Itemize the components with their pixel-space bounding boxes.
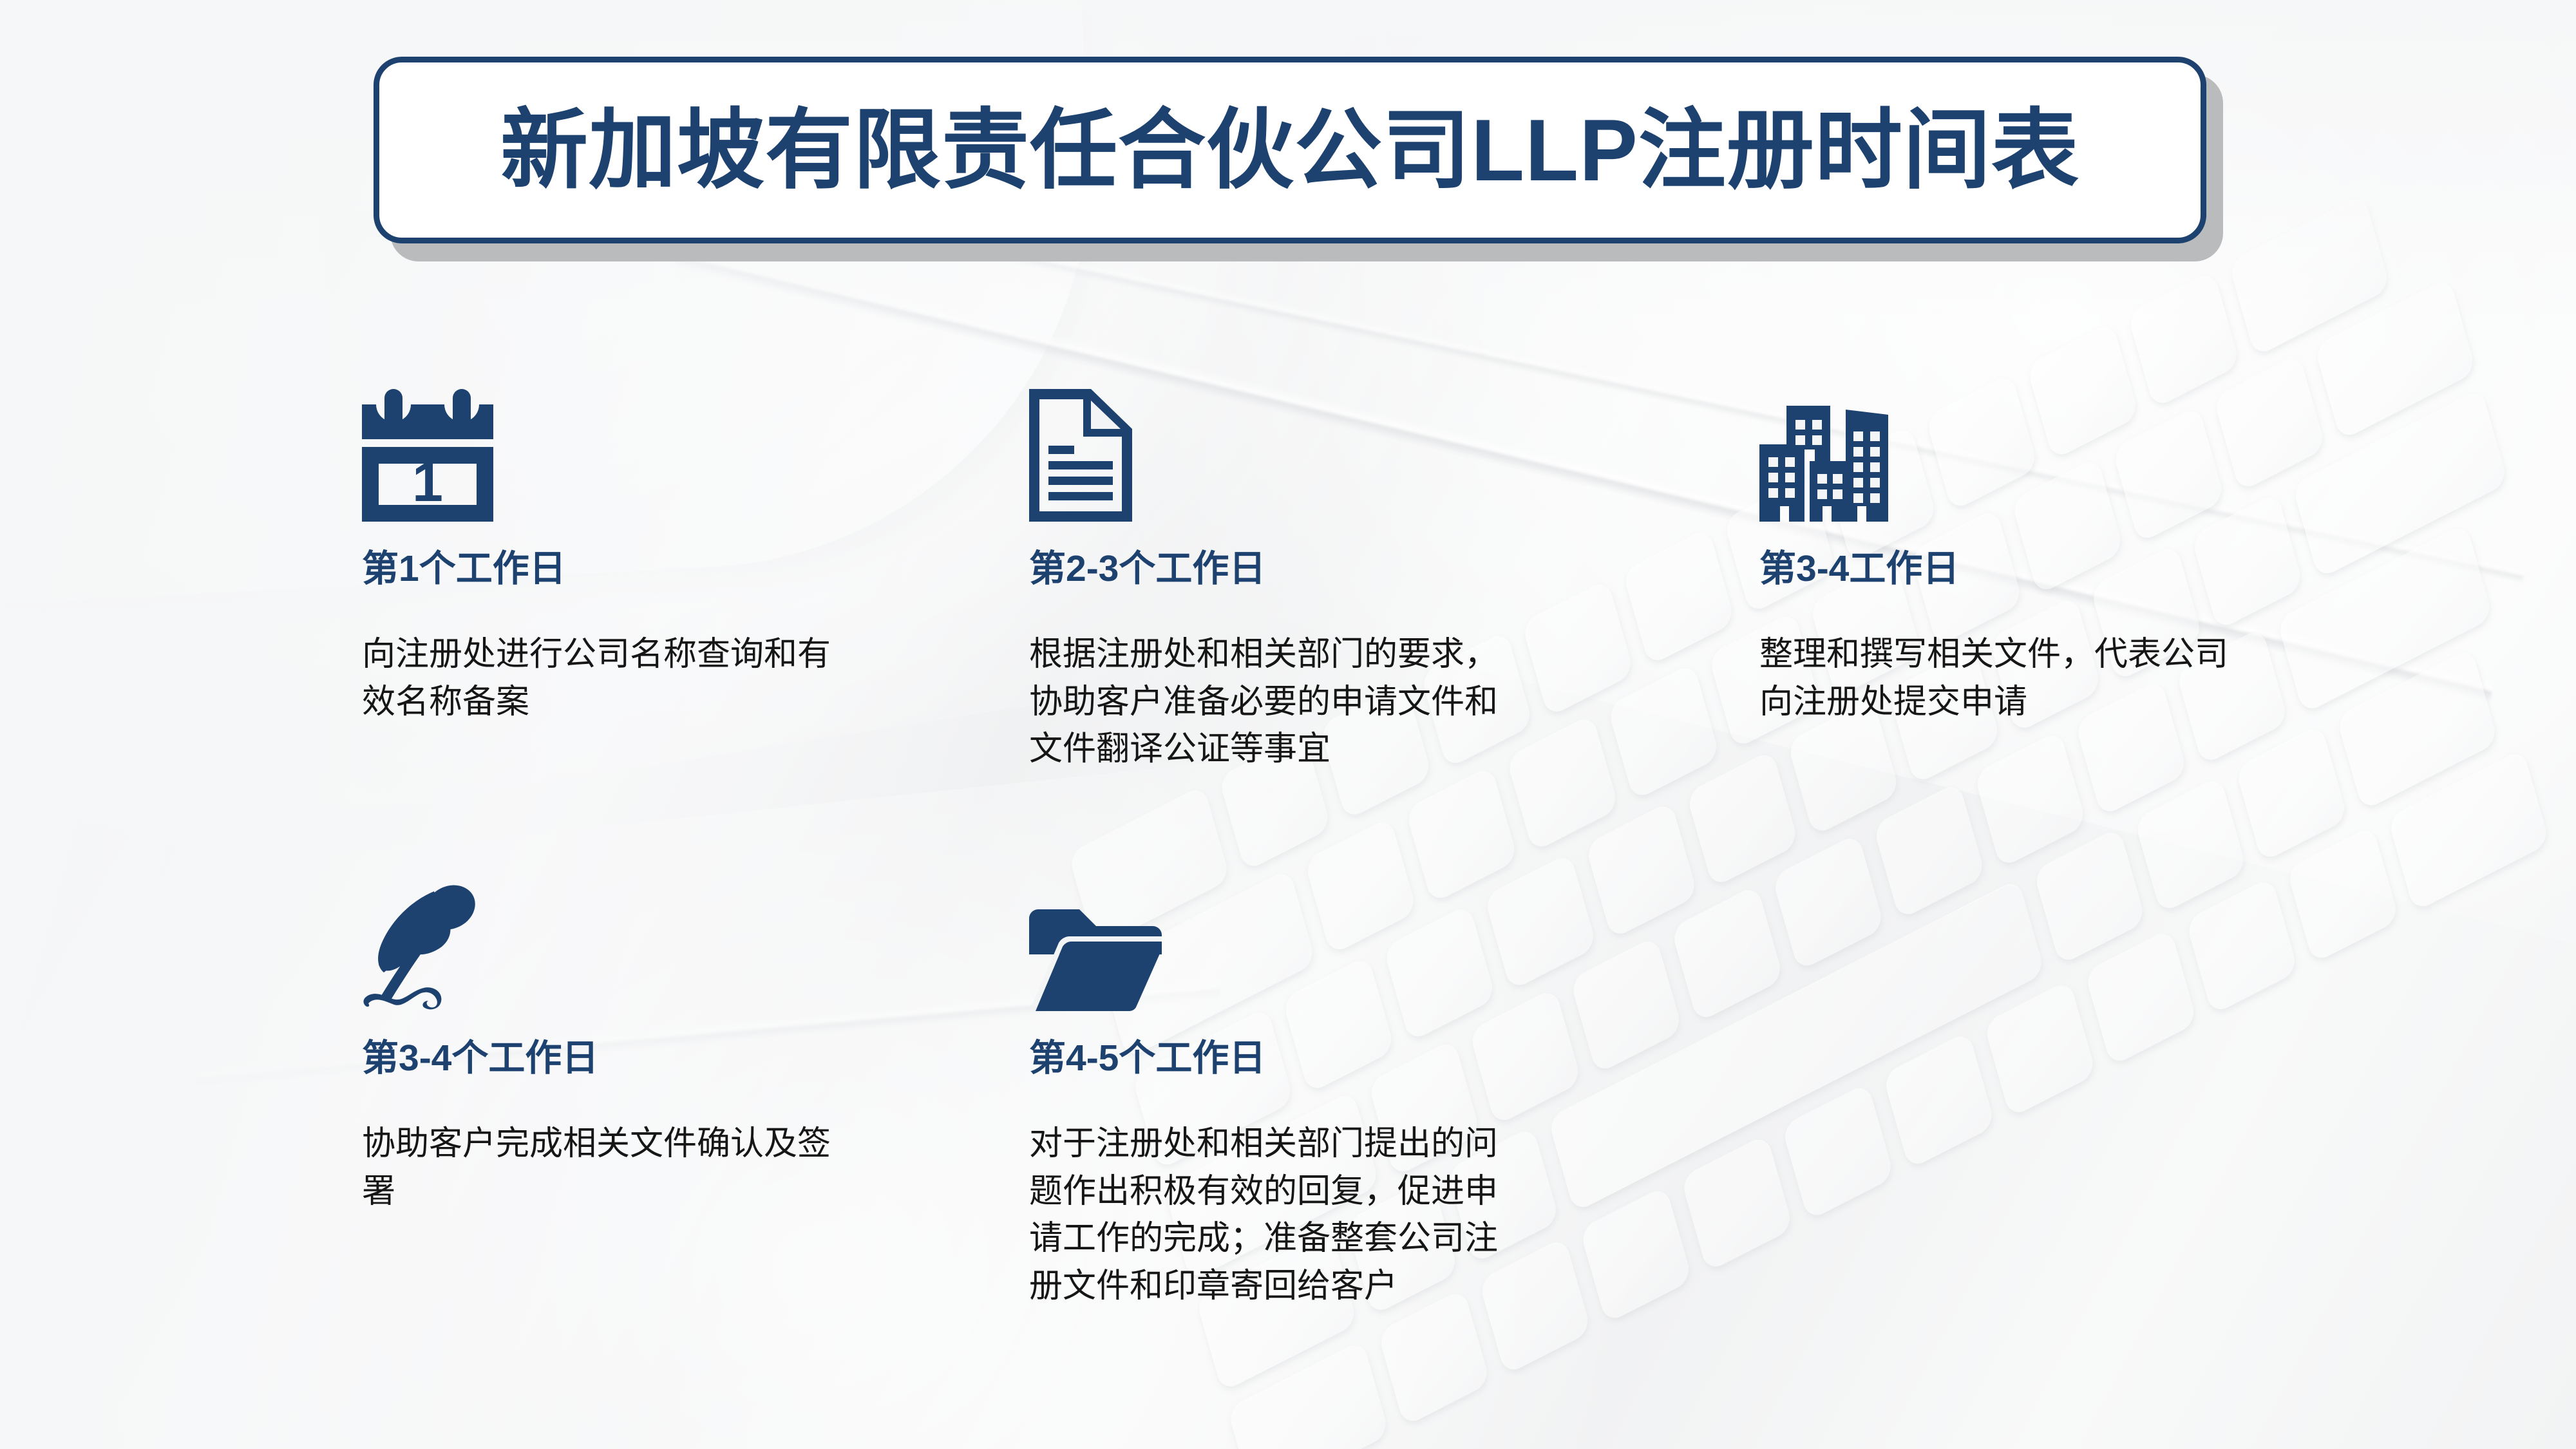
step-3-heading: 第3-4工作日	[1759, 549, 2416, 590]
step-2-body: 根据注册处和相关部门的要求， 协助客户准备必要的申请文件和 文件翻译公证等事宜	[1029, 631, 1564, 773]
timeline-step-1[interactable]: 1 第1个工作日 向注册处进行公司名称查询和有 效名称备案	[362, 361, 1019, 726]
step-5-heading: 第4-5个工作日	[1029, 1038, 1686, 1079]
timeline-step-5[interactable]: 第4-5个工作日 对于注册处和相关部门提出的问 题作出积极有效的回复，促进申 请…	[1029, 850, 1686, 1311]
step-5-body: 对于注册处和相关部门提出的问 题作出积极有效的回复，促进申 请工作的完成；准备整…	[1029, 1121, 1564, 1311]
step-3-body: 整理和撰写相关文件，代表公司 向注册处提交申请	[1759, 631, 2294, 726]
timeline-step-4[interactable]: 第3-4个工作日 协助客户完成相关文件确认及签 署	[362, 850, 1019, 1215]
title-banner: 新加坡有限责任合伙公司LLP注册时间表	[374, 57, 2206, 243]
timeline-steps: 1 第1个工作日 向注册处进行公司名称查询和有 效名称备案	[0, 361, 2576, 1340]
timeline-row-1: 1 第1个工作日 向注册处进行公司名称查询和有 效名称备案	[0, 361, 2576, 850]
calendar-icon: 1	[362, 361, 1019, 522]
step-4-body: 协助客户完成相关文件确认及签 署	[362, 1121, 887, 1216]
document-icon	[1029, 361, 1686, 522]
page-title: 新加坡有限责任合伙公司LLP注册时间表	[500, 106, 2079, 194]
timeline-row-2: 第3-4个工作日 协助客户完成相关文件确认及签 署 第4-5个工作日 对于注	[0, 850, 2576, 1340]
step-1-heading: 第1个工作日	[362, 549, 1019, 590]
title-banner-box: 新加坡有限责任合伙公司LLP注册时间表	[374, 57, 2206, 243]
buildings-icon	[1759, 361, 2416, 522]
timeline-step-3[interactable]: 第3-4工作日 整理和撰写相关文件，代表公司 向注册处提交申请	[1759, 361, 2416, 726]
step-4-heading: 第3-4个工作日	[362, 1038, 1019, 1079]
step-2-heading: 第2-3个工作日	[1029, 549, 1686, 590]
calendar-day-number: 1	[412, 451, 443, 513]
feather-pen-icon	[362, 850, 1019, 1011]
timeline-step-2[interactable]: 第2-3个工作日 根据注册处和相关部门的要求， 协助客户准备必要的申请文件和 文…	[1029, 361, 1686, 773]
folder-open-icon	[1029, 850, 1686, 1011]
step-1-body: 向注册处进行公司名称查询和有 效名称备案	[362, 631, 896, 726]
